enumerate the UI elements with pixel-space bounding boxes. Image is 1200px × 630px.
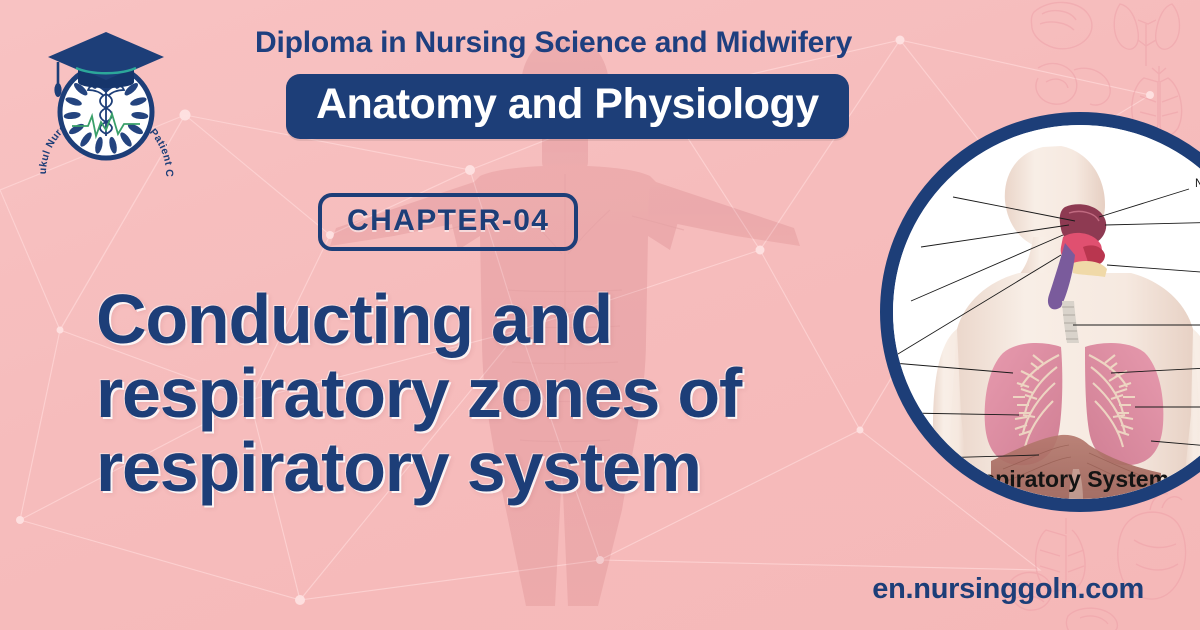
label-nasal-cavity: Nasal cavity xyxy=(1195,178,1200,190)
respiratory-system-diagram: Nasal cavity Pharynx Larynx Trachea Bron… xyxy=(893,125,1200,499)
page-title-line-2: respiratory zones of xyxy=(96,356,886,430)
page-title: Conducting and respiratory zones of resp… xyxy=(96,282,886,505)
program-title: Diploma in Nursing Science and Midwifery xyxy=(255,26,955,61)
subject-badge: Anatomy and Physiology xyxy=(286,74,849,139)
course-banner: Gurukul Nursing, Midwifery & Patient Car… xyxy=(0,0,1200,630)
institution-logo: Gurukul Nursing, Midwifery & Patient Car… xyxy=(36,24,176,182)
website-url[interactable]: en.nursinggoln.com xyxy=(872,575,1144,604)
page-title-line-1: Conducting and xyxy=(96,282,886,356)
illustration-caption: Respiratory System xyxy=(953,466,1169,492)
page-title-line-3: respiratory system xyxy=(96,430,886,504)
chapter-badge: CHAPTER-04 xyxy=(318,193,578,251)
respiratory-system-illustration: Nasal cavity Pharynx Larynx Trachea Bron… xyxy=(880,112,1200,512)
